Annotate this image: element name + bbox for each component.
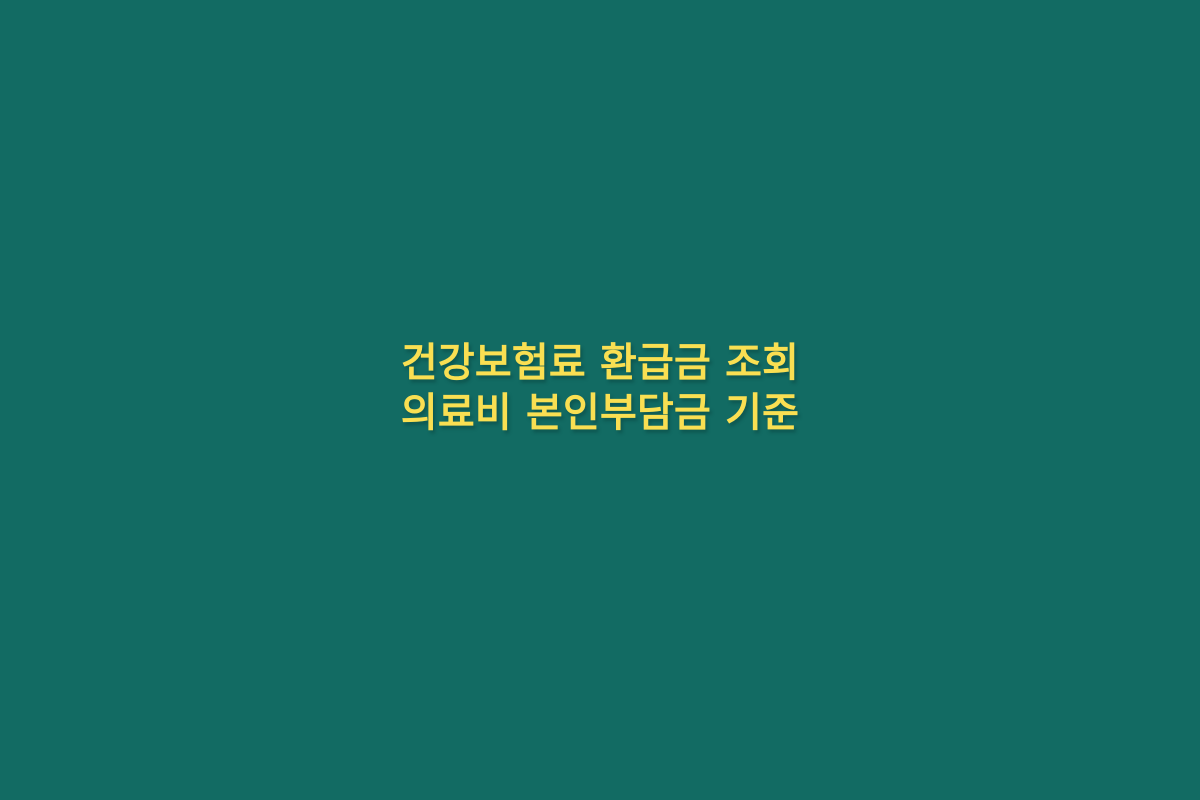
title-line-2: 의료비 본인부담금 기준 [0,388,1200,438]
title-block: 건강보험료 환급금 조회 의료비 본인부담금 기준 [0,338,1200,439]
thumbnail-card: 건강보험료 환급금 조회 의료비 본인부담금 기준 [0,0,1200,800]
title-line-1: 건강보험료 환급금 조회 [0,338,1200,388]
